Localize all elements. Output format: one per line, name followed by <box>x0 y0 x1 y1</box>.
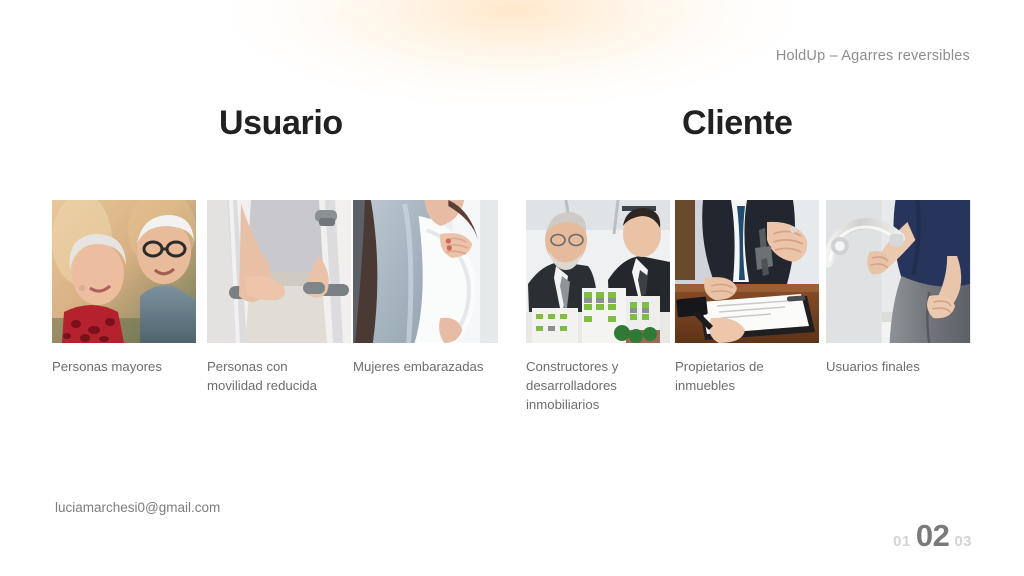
persona-card-caption: Constructores y desarrolladores inmobili… <box>526 358 670 414</box>
persona-card[interactable]: Constructores y desarrolladores inmobili… <box>526 200 670 414</box>
slide-header-title: HoldUp – Agarres reversibles <box>776 48 970 64</box>
section-titles: Usuario Cliente <box>0 104 1024 148</box>
person-using-grab-bar-photo <box>826 200 971 343</box>
key-handover-contract-photo <box>675 200 819 343</box>
persona-card-caption: Propietarios de inmuebles <box>675 358 819 396</box>
businessmen-building-model-photo <box>526 200 670 343</box>
persona-card[interactable]: Propietarios de inmuebles <box>675 200 819 396</box>
slide-pagination: 01 02 03 <box>893 518 972 554</box>
persona-card-caption: Personas mayores <box>52 358 196 377</box>
page-number-02-current[interactable]: 02 <box>916 518 949 554</box>
persona-card-caption: Usuarios finales <box>826 358 970 377</box>
pregnant-woman-photo <box>353 200 498 343</box>
section-title-usuario: Usuario <box>219 104 343 143</box>
elderly-couple-photo <box>52 200 196 343</box>
persona-card[interactable]: Personas mayores <box>52 200 196 377</box>
person-with-crutches-photo <box>207 200 351 343</box>
persona-card-caption: Personas con movilidad reducida <box>207 358 351 396</box>
page-number-03[interactable]: 03 <box>954 533 972 550</box>
persona-card-caption: Mujeres embarazadas <box>353 358 518 377</box>
persona-card[interactable]: Mujeres embarazadas <box>353 200 518 377</box>
section-title-cliente: Cliente <box>682 104 793 143</box>
page-number-01[interactable]: 01 <box>893 533 911 550</box>
persona-card[interactable]: Personas con movilidad reducida <box>207 200 351 396</box>
persona-card[interactable]: Usuarios finales <box>826 200 970 377</box>
contact-email[interactable]: luciamarchesi0@gmail.com <box>55 500 220 515</box>
